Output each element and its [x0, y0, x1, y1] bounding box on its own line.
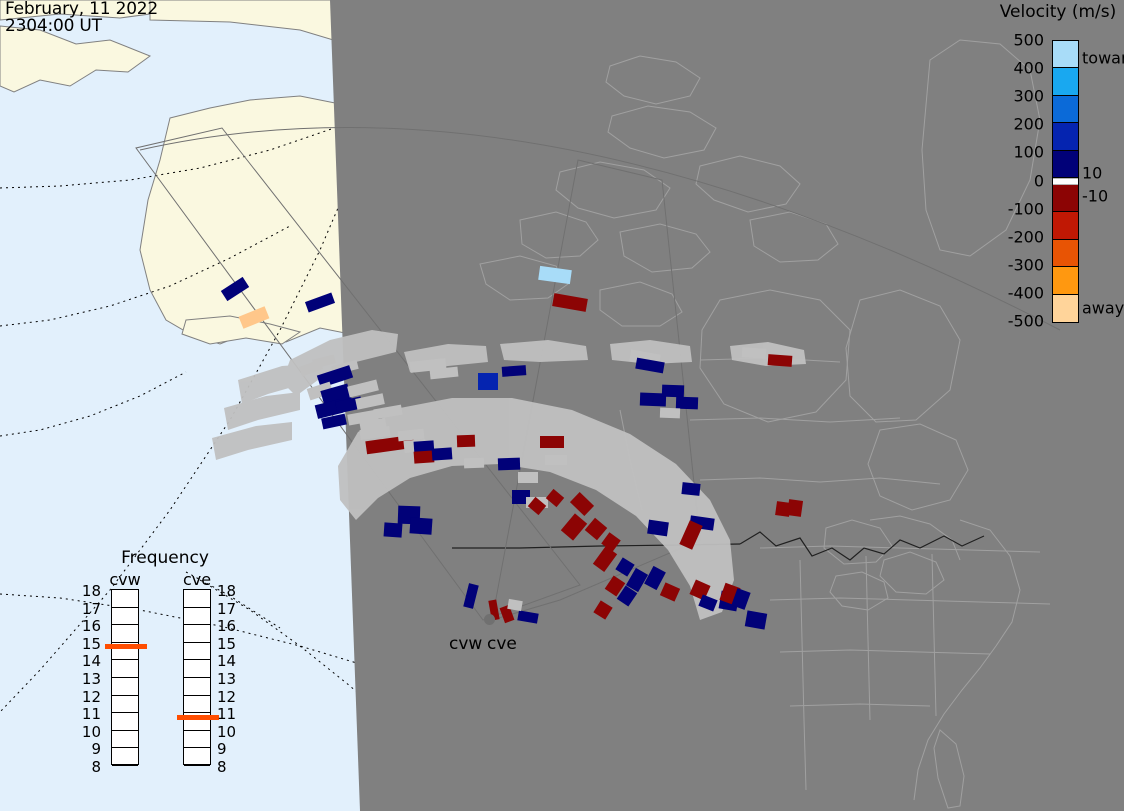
- scatter-cell: [463, 583, 479, 609]
- frequency-segment: [112, 748, 138, 766]
- scatter-cell: [552, 293, 588, 312]
- frequency-tick-9: 9: [217, 740, 227, 758]
- frequency-segment: [184, 696, 210, 714]
- scatter-cell: [540, 436, 564, 448]
- frequency-tick-9: 9: [91, 740, 101, 758]
- frequency-segment: [112, 713, 138, 731]
- frequency-tick-13: 13: [217, 670, 236, 688]
- colorbar-band-2: [1053, 96, 1078, 123]
- scatter-cell: [742, 347, 767, 359]
- scatter-cell: [647, 520, 669, 537]
- frequency-segment: [184, 608, 210, 626]
- colorbar-tick-100: 100: [1013, 143, 1044, 162]
- frequency-marker-cve: [177, 715, 219, 720]
- scatter-cell: [384, 522, 403, 537]
- colorbar-band-4: [1053, 151, 1078, 178]
- frequency-tick-15: 15: [217, 635, 236, 653]
- colorbar-plus-ten-label: 10: [1082, 164, 1102, 183]
- scatter-cell: [660, 408, 680, 419]
- frequency-segment: [112, 590, 138, 608]
- frequency-tick-16: 16: [217, 617, 236, 635]
- colorbar-tick--300: -300: [1008, 255, 1044, 274]
- frequency-segment: [184, 678, 210, 696]
- colorbar-band-5: [1053, 185, 1078, 212]
- radar-site-dot: [484, 614, 495, 625]
- scatter-cell: [498, 458, 520, 471]
- colorbar-minus-ten-label: -10: [1082, 187, 1108, 206]
- frequency-tick-8: 8: [217, 758, 227, 776]
- frequency-tick-18: 18: [82, 582, 101, 600]
- scatter-cell: [545, 455, 567, 465]
- frequency-tick-10: 10: [82, 723, 101, 741]
- frequency-segment: [112, 678, 138, 696]
- frequency-segment: [184, 748, 210, 766]
- scatter-cell: [662, 385, 684, 398]
- colorbar-side-labels: toward10-10away: [1082, 40, 1124, 323]
- frequency-segment: [184, 731, 210, 749]
- colorbar-band-3: [1053, 123, 1078, 150]
- scatter-cell: [546, 489, 564, 507]
- scatter-cell: [409, 517, 432, 534]
- scatter-cell: [593, 600, 612, 619]
- colorbar-tick--500: -500: [1008, 312, 1044, 331]
- frequency-tick-15: 15: [82, 635, 101, 653]
- scatter-cell: [561, 513, 587, 540]
- frequency-bar-cvw: [111, 589, 139, 765]
- scatter-cell: [478, 373, 498, 390]
- frequency-marker-cvw: [105, 644, 147, 649]
- colorbar-band-7: [1053, 240, 1078, 267]
- scatter-cell: [502, 365, 527, 377]
- scatter-cell: [585, 518, 608, 541]
- frequency-segment: [112, 696, 138, 714]
- scatter-cell: [464, 458, 484, 469]
- scatter-cell: [239, 306, 270, 329]
- colorbar-gradient: [1052, 40, 1079, 323]
- scatter-cell: [570, 492, 594, 516]
- scatter-cell: [518, 472, 538, 483]
- frequency-ticks-cve: 18171615141312111098: [217, 589, 239, 767]
- frequency-tick-14: 14: [217, 652, 236, 670]
- frequency-column-cvw: cvw18171615141312111098: [93, 570, 157, 765]
- scatter-cell: [745, 610, 767, 629]
- scatter-cell: [698, 594, 717, 611]
- frequency-tick-13: 13: [82, 670, 101, 688]
- scatter-cell: [305, 293, 335, 313]
- radar-site-label-cvw: cvw: [449, 634, 482, 654]
- scatter-cell: [660, 582, 680, 601]
- scatter-cell: [373, 405, 402, 420]
- scatter-cell: [635, 358, 664, 374]
- velocity-colorbar: Velocity (m/s) 5004003002001000-100-200-…: [1000, 0, 1124, 340]
- colorbar-band-1: [1053, 68, 1078, 95]
- frequency-tick-12: 12: [217, 688, 236, 706]
- frequency-tick-18: 18: [217, 582, 236, 600]
- scatter-cell: [221, 277, 249, 301]
- colorbar-tick--200: -200: [1008, 227, 1044, 246]
- scatter-cell: [457, 435, 475, 448]
- frequency-tick-16: 16: [82, 617, 101, 635]
- colorbar-tick--400: -400: [1008, 283, 1044, 302]
- frequency-radar-name-cvw: cvw: [93, 570, 157, 589]
- frequency-tick-17: 17: [217, 600, 236, 618]
- scatter-cell: [538, 266, 572, 284]
- frequency-tick-10: 10: [217, 723, 236, 741]
- frequency-title: Frequency: [85, 548, 245, 568]
- frequency-segment: [112, 625, 138, 643]
- colorbar-band-6: [1053, 212, 1078, 239]
- timestamp: February, 11 2022 2304:00 UT: [5, 1, 158, 35]
- frequency-segment: [184, 590, 210, 608]
- frequency-ticks-cvw: 18171615141312111098: [79, 589, 101, 767]
- frequency-tick-12: 12: [82, 688, 101, 706]
- frequency-tick-11: 11: [217, 705, 236, 723]
- colorbar-tick--100: -100: [1008, 199, 1044, 218]
- frequency-segment: [112, 608, 138, 626]
- colorbar-tick-400: 400: [1013, 59, 1044, 78]
- scatter-cell: [768, 354, 793, 367]
- frequency-legend: Frequency cvw18171615141312111098cve1817…: [85, 548, 245, 793]
- frequency-segment: [184, 660, 210, 678]
- colorbar-away-label: away: [1082, 299, 1124, 318]
- scatter-cell: [681, 482, 700, 496]
- frequency-segment: [184, 625, 210, 643]
- colorbar-band-8: [1053, 267, 1078, 294]
- colorbar-zero-band: [1053, 178, 1078, 185]
- frequency-tick-11: 11: [82, 705, 101, 723]
- colorbar-title: Velocity (m/s): [978, 2, 1124, 22]
- colorbar-tick-500: 500: [1013, 31, 1044, 50]
- radar-site-label-cve: cve: [487, 634, 517, 654]
- superdarn-fitacf-map: February, 11 2022 2304:00 UT Velocity (m…: [0, 0, 1124, 811]
- scatter-cell: [679, 520, 702, 549]
- frequency-segment: [112, 731, 138, 749]
- scatter-cell: [787, 499, 803, 517]
- colorbar-band-0: [1053, 41, 1078, 68]
- frequency-column-cve: cve18171615141312111098: [165, 570, 229, 765]
- colorbar-band-9: [1053, 295, 1078, 322]
- frequency-tick-8: 8: [91, 758, 101, 776]
- scatter-cell: [517, 610, 538, 623]
- colorbar-tick-200: 200: [1013, 115, 1044, 134]
- colorbar-toward-label: toward: [1082, 49, 1124, 68]
- frequency-segment: [184, 643, 210, 661]
- colorbar-tick-300: 300: [1013, 87, 1044, 106]
- timestamp-time: 2304:00 UT: [5, 18, 158, 35]
- frequency-tick-14: 14: [82, 652, 101, 670]
- scatter-cell: [432, 447, 453, 460]
- frequency-segment: [112, 660, 138, 678]
- frequency-bar-cve: [183, 589, 211, 765]
- colorbar-tick-labels: 5004003002001000-100-200-300-400-500: [956, 40, 1048, 323]
- colorbar-tick-0: 0: [1034, 171, 1044, 190]
- frequency-tick-17: 17: [82, 600, 101, 618]
